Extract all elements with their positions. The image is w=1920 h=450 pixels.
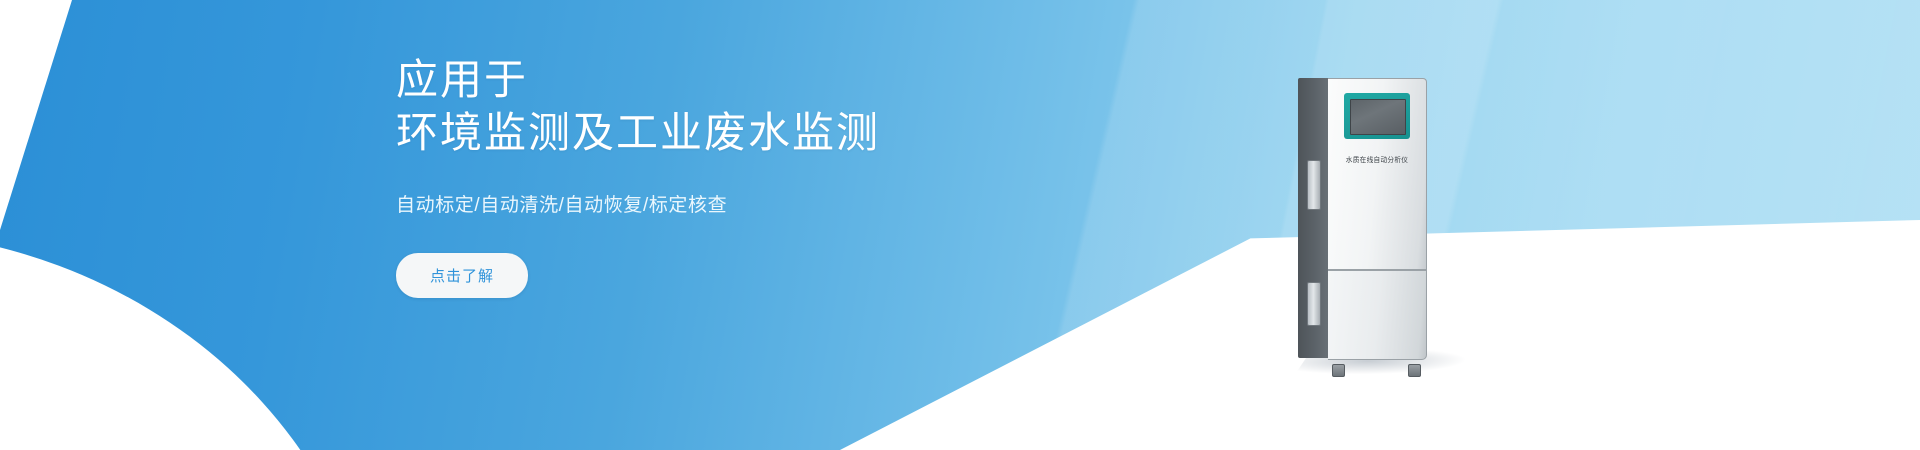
cabinet-side-panel bbox=[1298, 78, 1330, 358]
hero-headline: 应用于 环境监测及工业废水监测 bbox=[396, 54, 1156, 160]
cabinet-handle-lower bbox=[1307, 282, 1321, 326]
learn-more-button[interactable]: 点击了解 bbox=[396, 253, 528, 298]
product-image-analyzer: 水质在线自动分析仪 bbox=[1298, 78, 1428, 368]
caster-wheel-right bbox=[1408, 364, 1421, 377]
display-screen bbox=[1350, 99, 1406, 135]
product-model-label: 水质在线自动分析仪 bbox=[1330, 155, 1423, 165]
caster-wheel-left bbox=[1332, 364, 1345, 377]
hero-banner: 应用于 环境监测及工业废水监测 自动标定/自动清洗/自动恢复/标定核查 点击了解… bbox=[0, 0, 1920, 450]
cabinet-lower-door bbox=[1328, 270, 1427, 360]
cabinet-upper-door: 水质在线自动分析仪 bbox=[1328, 78, 1427, 270]
display-bezel bbox=[1344, 93, 1410, 139]
hero-subtitle: 自动标定/自动清洗/自动恢复/标定核查 bbox=[396, 190, 1156, 217]
cabinet-handle-upper bbox=[1307, 160, 1321, 210]
hero-copy-block: 应用于 环境监测及工业废水监测 自动标定/自动清洗/自动恢复/标定核查 点击了解 bbox=[396, 54, 1156, 298]
